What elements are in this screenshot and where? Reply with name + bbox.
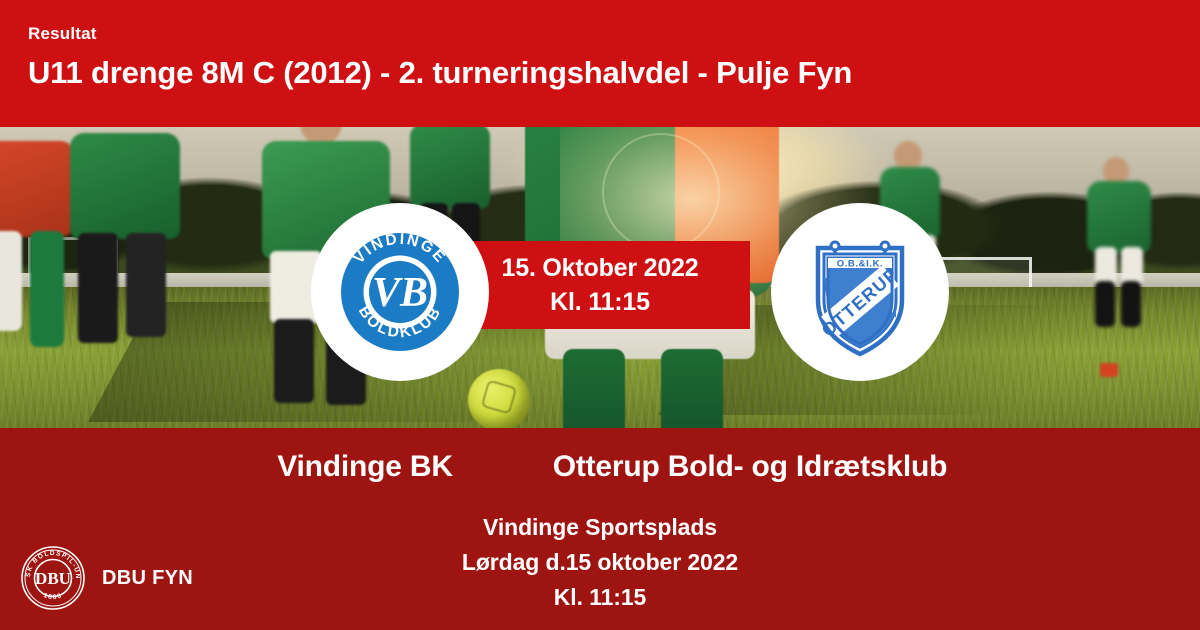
player-silhouette (60, 127, 210, 353)
svg-text:O.B.&I.K.: O.B.&I.K. (837, 259, 884, 270)
result-poster: Resultat U11 drenge 8M C (2012) - 2. tur… (0, 0, 1200, 630)
team-names-row: Vindinge BK Otterup Bold- og Idrætsklub (0, 450, 1200, 484)
poster-header: Resultat U11 drenge 8M C (2012) - 2. tur… (0, 0, 1200, 127)
training-cone (1100, 363, 1118, 377)
dbu-fyn-branding: DANSK BOLDSPIL-UNION 1889 DBU DBU FYN (20, 545, 193, 611)
home-team-name: Vindinge BK (215, 450, 515, 484)
match-time: Kl. 11:15 (550, 285, 650, 319)
svg-text:VB: VB (372, 270, 428, 316)
svg-text:1889: 1889 (42, 592, 63, 601)
otterup-bik-logo-icon: O.B.&I.K. OTTERUP (794, 222, 926, 362)
lens-flare-ring (602, 133, 720, 251)
page-title: U11 drenge 8M C (2012) - 2. turneringsha… (28, 53, 1200, 93)
svg-text:DBU: DBU (35, 569, 71, 588)
home-team-crest: VINDINGE BOLDKLUB VB (311, 203, 489, 381)
away-team-crest: O.B.&I.K. OTTERUP (771, 203, 949, 381)
away-team-name: Otterup Bold- og Idrætsklub (515, 450, 985, 484)
vindinge-boldklub-logo-icon: VINDINGE BOLDKLUB VB (330, 222, 470, 362)
venue-name: Vindinge Sportsplads (0, 510, 1200, 545)
dbu-seal-icon: DANSK BOLDSPIL-UNION 1889 DBU (20, 545, 86, 611)
football-ball (468, 369, 530, 428)
header-eyebrow: Resultat (28, 24, 1200, 44)
dbu-fyn-label: DBU FYN (102, 567, 193, 590)
player-silhouette (1073, 157, 1169, 347)
match-date: 15. Oktober 2022 (502, 251, 699, 285)
match-datetime-band: 15. Oktober 2022 Kl. 11:15 (450, 241, 750, 329)
